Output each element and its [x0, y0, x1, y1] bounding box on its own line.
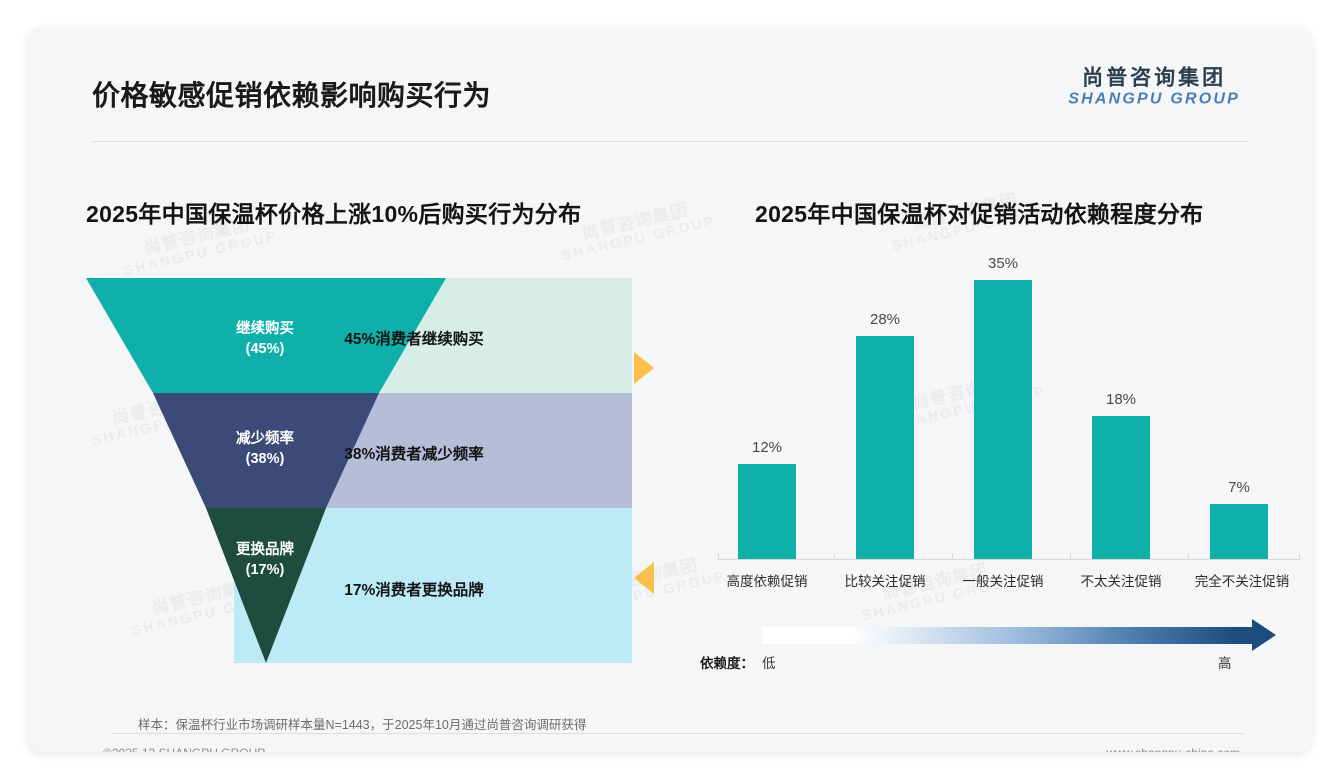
bar-value-4: 18% [1106, 391, 1136, 408]
logo-cn-text: 尚普咨询集团 [1068, 67, 1240, 91]
arrow-head-icon [1252, 619, 1276, 651]
bar-column-5: 7% [1190, 278, 1288, 560]
category-label-2: 比较关注促销 [829, 570, 941, 590]
bar-rect-2[interactable] [856, 336, 914, 560]
bar-value-3: 35% [988, 255, 1018, 272]
page-title: 价格敏感促销依赖影响购买行为 [92, 74, 491, 114]
axis-tick [718, 554, 719, 560]
bar-value-5: 7% [1228, 479, 1250, 496]
category-label-1: 高度依赖促销 [711, 570, 823, 590]
funnel-segment-1-value: (45%) [246, 341, 285, 357]
funnel-segment-2-value: (38%) [246, 451, 285, 467]
brand-logo: 尚普咨询集团 SHANGPU GROUP [1068, 67, 1240, 110]
axis-tick [834, 554, 835, 560]
funnel-segment-2-name: 减少频率 [236, 431, 294, 447]
legend-high-label: 高 [1218, 652, 1232, 672]
funnel-segment-1-label: 继续购买 (45%) [210, 320, 320, 359]
logo-en-text: SHANGPU GROUP [1068, 91, 1240, 109]
category-label-3: 一般关注促销 [947, 570, 1059, 590]
axis-tick [952, 554, 953, 560]
right-chart-title: 2025年中国保温杯对促销活动依赖程度分布 [755, 195, 1203, 229]
bar-rect-5[interactable] [1210, 504, 1268, 560]
bar-column-2: 28% [836, 278, 934, 560]
legend-low-label: 低 [762, 652, 776, 672]
bar-column-4: 18% [1072, 278, 1170, 560]
funnel-segment-3-label: 更换品牌 (17%) [210, 541, 320, 580]
funnel-chart: 继续购买 (45%) 减少频率 (38%) 更换品牌 (17%) 45%消费者继… [86, 278, 646, 678]
dependency-bar-chart: 12% 28% 35% 18% 7% [718, 278, 1308, 608]
funnel-segment-2-label: 减少频率 (38%) [210, 430, 320, 469]
watermark-en: SHANGPU GROUP [122, 229, 279, 279]
page-header: 价格敏感促销依赖影响购买行为 尚普咨询集团 SHANGPU GROUP [28, 28, 1312, 120]
bar-value-2: 28% [870, 311, 900, 328]
play-right-icon [634, 352, 654, 384]
gradient-bar [762, 627, 1254, 644]
axis-tick [1070, 554, 1071, 560]
bar-column-1: 12% [718, 278, 816, 560]
legend-label: 依赖度： [700, 652, 754, 672]
watermark-en: SHANGPU GROUP [560, 214, 717, 264]
x-axis-line [718, 559, 1300, 560]
category-label-5: 完全不关注促销 [1186, 570, 1298, 590]
bar-rect-1[interactable] [738, 464, 796, 560]
left-chart-title: 2025年中国保温杯价格上涨10%后购买行为分布 [86, 195, 581, 229]
funnel-panel-2-text: 38%消费者减少频率 [344, 442, 484, 464]
funnel-segment-1-name: 继续购买 [236, 321, 294, 337]
funnel-panel-3-text: 17%消费者更换品牌 [344, 578, 484, 600]
header-divider [92, 141, 1248, 142]
bar-rect-4[interactable] [1092, 416, 1150, 560]
dependency-gradient-legend: 依赖度： 低 高 [700, 618, 1300, 678]
funnel-segment-3-name: 更换品牌 [236, 542, 294, 558]
bar-value-1: 12% [752, 439, 782, 456]
footer-copyright: ©2025.12 SHANGPU GROUP [103, 746, 265, 752]
funnel-segment-3-value: (17%) [246, 562, 285, 578]
footer-divider [112, 733, 1244, 734]
bar-rect-3[interactable] [974, 280, 1032, 560]
bar-column-3: 35% [954, 278, 1052, 560]
funnel-panel-1-text: 45%消费者继续购买 [344, 327, 484, 349]
axis-tick [1299, 554, 1300, 560]
axis-tick [1188, 554, 1189, 560]
footer-website[interactable]: www.shangpu-china.com [1107, 746, 1240, 752]
bar-plot-area: 12% 28% 35% 18% 7% [718, 278, 1308, 560]
slide-page: 尚普咨询集团 SHANGPU GROUP 尚普咨询集团 SHANGPU GROU… [0, 0, 1340, 780]
play-left-icon [634, 562, 654, 594]
source-footnote: 样本：保温杯行业市场调研样本量N=1443，于2025年10月通过尚普咨询调研获… [138, 714, 586, 733]
slide-card: 尚普咨询集团 SHANGPU GROUP 尚普咨询集团 SHANGPU GROU… [28, 28, 1312, 752]
category-label-4: 不太关注促销 [1065, 570, 1177, 590]
